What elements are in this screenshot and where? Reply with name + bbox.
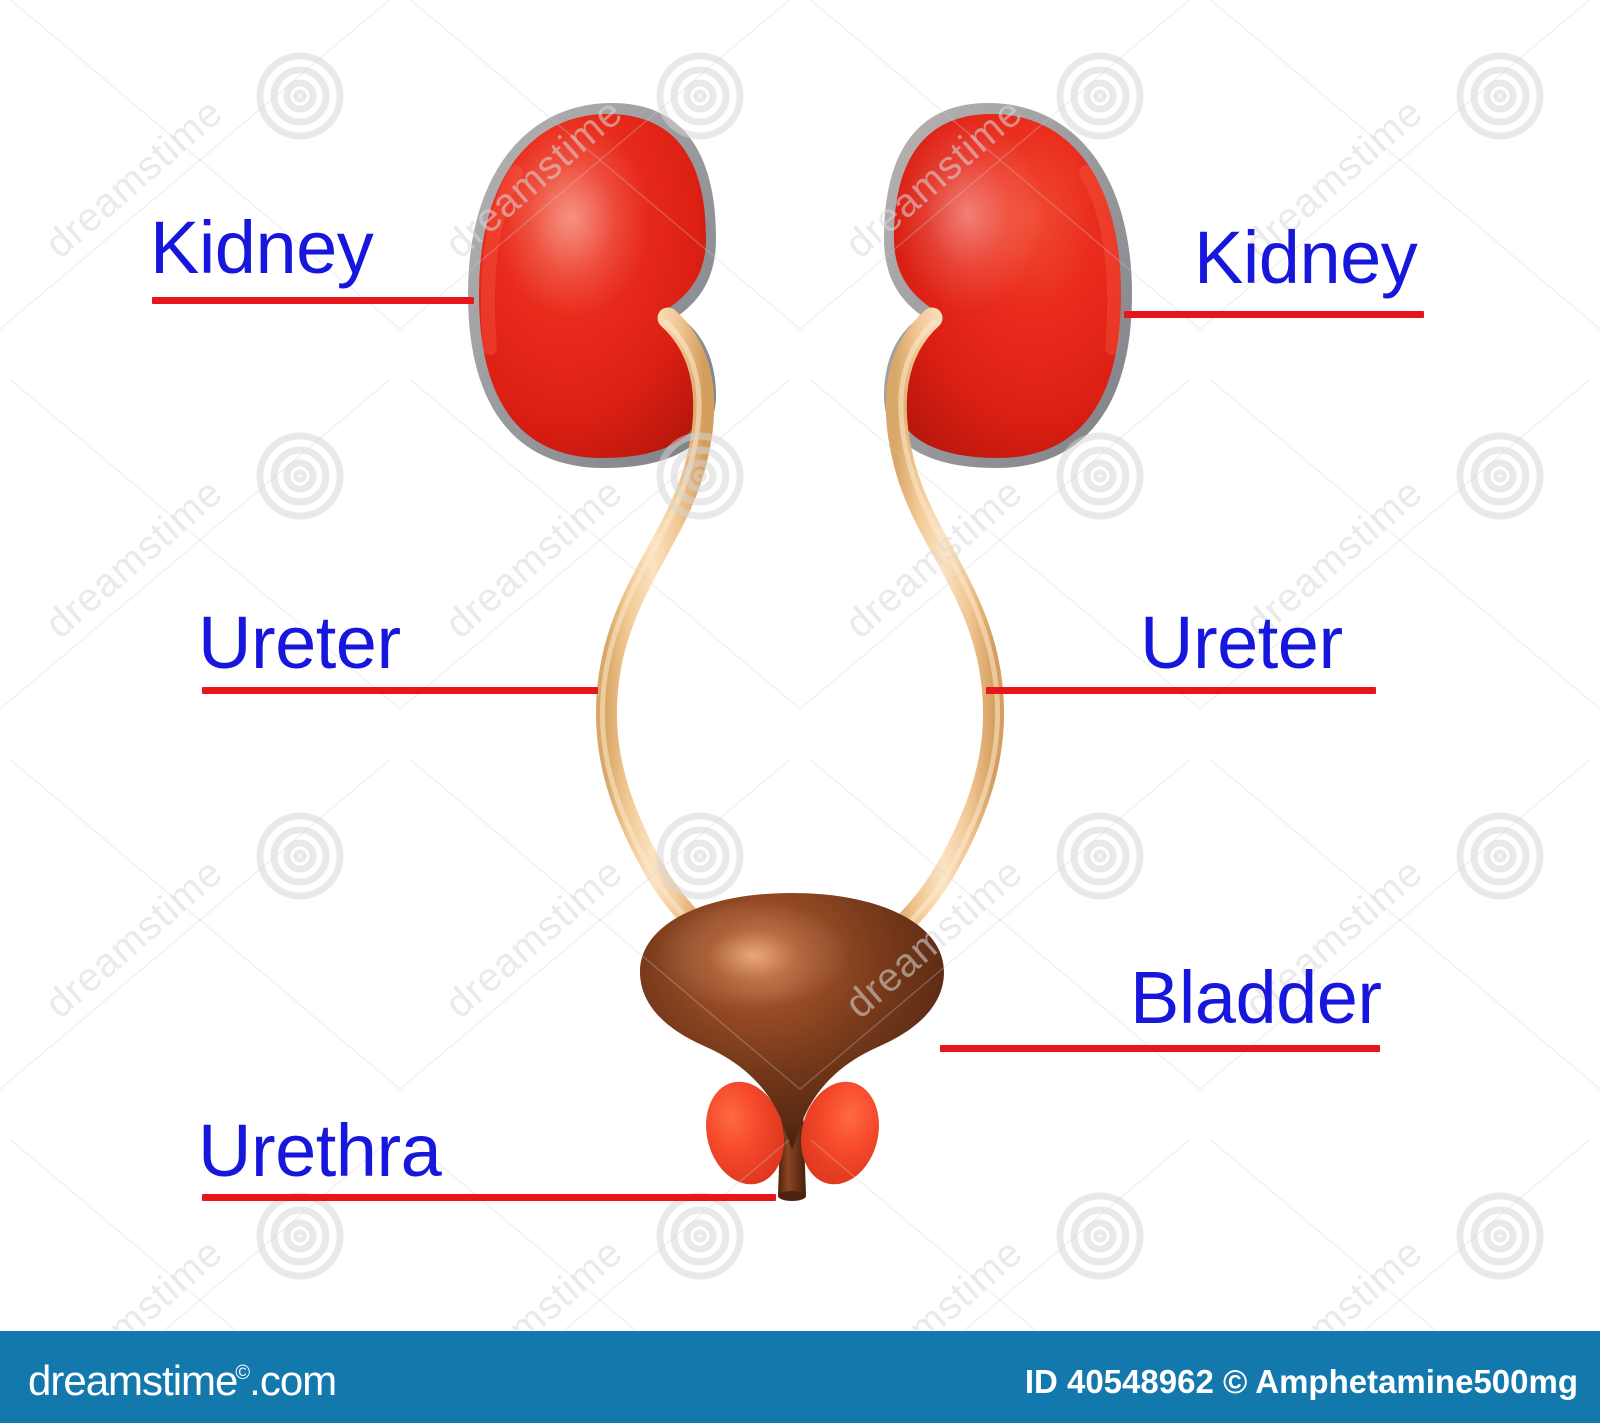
leader-line-ureter-left bbox=[202, 687, 598, 694]
label-urethra-text: Urethra bbox=[198, 1115, 441, 1188]
registered-mark-icon: © bbox=[235, 1362, 249, 1384]
leader-line-kidney-left bbox=[152, 297, 474, 304]
bladder-organ bbox=[640, 893, 944, 1150]
stock-footer-bar: dreamstime©.com ID 40548962 © Amphetamin… bbox=[0, 1331, 1600, 1423]
leader-line-urethra bbox=[202, 1194, 776, 1201]
label-ureter-left-text: Ureter bbox=[198, 607, 401, 680]
kidney-right-organ bbox=[884, 103, 1132, 468]
label-ureter-right: Ureter bbox=[1140, 607, 1343, 680]
leader-line-bladder bbox=[940, 1045, 1380, 1052]
leader-line-ureter-right bbox=[986, 687, 1376, 694]
diagram-canvas: dreamstime Kidney Kidney Ureter Ureter B… bbox=[0, 0, 1600, 1423]
label-ureter-right-text: Ureter bbox=[1140, 607, 1343, 680]
label-kidney-right: Kidney bbox=[1194, 222, 1417, 295]
kidney-left-organ bbox=[468, 103, 716, 468]
leader-line-kidney-right bbox=[1124, 311, 1424, 318]
label-urethra: Urethra bbox=[198, 1115, 441, 1188]
image-id-credit: ID 40548962 © Amphetamine500mg bbox=[1025, 1363, 1578, 1401]
label-kidney-right-text: Kidney bbox=[1194, 222, 1417, 295]
dreamstime-logo-word: dreamstime bbox=[28, 1357, 237, 1404]
label-kidney-left-text: Kidney bbox=[150, 212, 373, 285]
label-bladder-text: Bladder bbox=[1130, 962, 1382, 1035]
dreamstime-logo: dreamstime©.com bbox=[28, 1357, 336, 1405]
dreamstime-logo-tld: .com bbox=[249, 1357, 336, 1404]
label-bladder: Bladder bbox=[1130, 962, 1382, 1035]
label-ureter-left: Ureter bbox=[198, 607, 401, 680]
label-kidney-left: Kidney bbox=[150, 212, 373, 285]
